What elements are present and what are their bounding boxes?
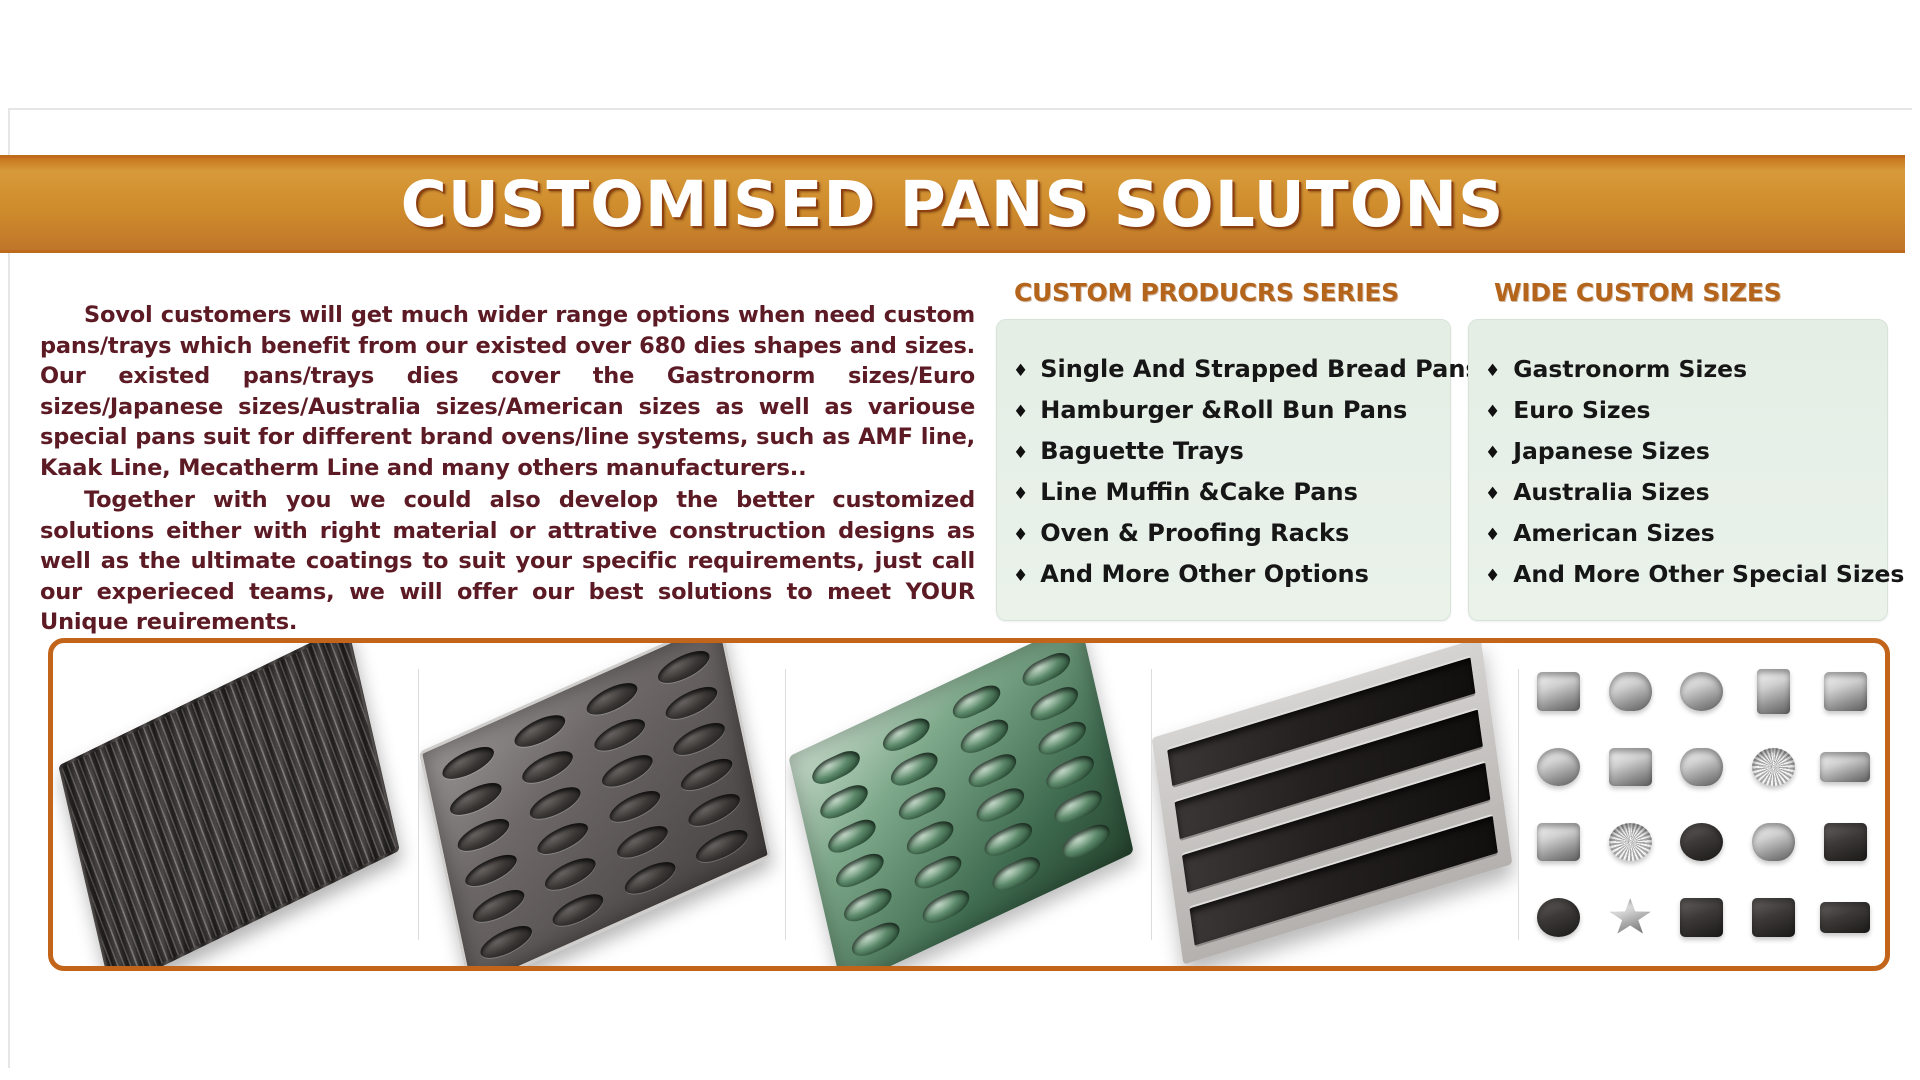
diamond-bullet-icon: ♦ (1013, 434, 1028, 472)
diamond-bullet-icon: ♦ (1485, 434, 1500, 472)
list-item-label: Hamburger &Roll Bun Pans (1040, 391, 1407, 429)
list-item[interactable]: ♦ And More Other Options (1013, 555, 1440, 596)
diamond-bullet-icon: ♦ (1485, 393, 1500, 431)
custom-products-series-card: ♦ Single And Strapped Bread Pans ♦ Hambu… (996, 319, 1451, 621)
custom-products-series-heading: CUSTOM PRODUCRS SERIES (1014, 278, 1451, 307)
list-item[interactable]: ♦ American Sizes (1485, 514, 1877, 555)
wide-custom-sizes-heading: WIDE CUSTOM SIZES (1494, 278, 1888, 307)
strapped-bread-pan-set-image (1152, 643, 1512, 965)
list-item-label: Line Muffin &Cake Pans (1040, 473, 1358, 511)
product-photo-green-oval-roll-pan (786, 643, 1152, 966)
content-row: Sovol customers will get much wider rang… (0, 278, 1910, 618)
list-item[interactable]: ♦ And More Other Special Sizes (1485, 555, 1877, 596)
list-item[interactable]: ♦ Hamburger &Roll Bun Pans (1013, 391, 1440, 432)
list-item[interactable]: ♦ Line Muffin &Cake Pans (1013, 473, 1440, 514)
intro-paragraph-2: Together with you we could also develop … (40, 485, 975, 638)
intro-paragraph-1: Sovol customers will get much wider rang… (40, 300, 975, 483)
list-item[interactable]: ♦ Japanese Sizes (1485, 432, 1877, 473)
list-item[interactable]: ♦ Gastronorm Sizes (1485, 350, 1877, 391)
list-item-label: And More Other Special Sizes (1513, 555, 1904, 593)
diamond-bullet-icon: ♦ (1485, 557, 1500, 595)
list-item-label: American Sizes (1513, 514, 1715, 552)
list-item[interactable]: ♦ Euro Sizes (1485, 391, 1877, 432)
diamond-bullet-icon: ♦ (1013, 475, 1028, 513)
diamond-bullet-icon: ♦ (1485, 352, 1500, 390)
intro-copy: Sovol customers will get much wider rang… (40, 300, 975, 638)
hamburger-bun-pan-image (419, 643, 771, 966)
diamond-bullet-icon: ♦ (1013, 557, 1028, 595)
list-item-label: Baguette Trays (1040, 432, 1244, 470)
list-item-label: Australia Sizes (1513, 473, 1709, 511)
list-item-label: And More Other Options (1040, 555, 1369, 593)
product-photo-strip (48, 638, 1890, 971)
list-item-label: Japanese Sizes (1513, 432, 1710, 470)
corrugated-baguette-tray-image (58, 643, 400, 966)
diamond-bullet-icon: ♦ (1013, 516, 1028, 554)
slide-canvas: CUSTOMISED PANS SOLUTONS Sovol customers… (0, 0, 1920, 1080)
bread-pan-channels (1166, 655, 1497, 947)
list-item[interactable]: ♦ Single And Strapped Bread Pans (1013, 350, 1440, 391)
list-item-label: Euro Sizes (1513, 391, 1650, 429)
bun-cups (441, 645, 750, 964)
page-title: CUSTOMISED PANS SOLUTONS (401, 168, 1505, 241)
product-photo-assorted-small-pans (1519, 643, 1885, 966)
custom-products-series-list: ♦ Single And Strapped Bread Pans ♦ Hambu… (1013, 350, 1440, 596)
green-oval-roll-pan-image (789, 643, 1135, 966)
oval-cups (811, 647, 1113, 962)
product-photo-strapped-bread-pan-set (1152, 643, 1518, 966)
wide-custom-sizes-list: ♦ Gastronorm Sizes ♦ Euro Sizes ♦ Japane… (1485, 350, 1877, 596)
diamond-bullet-icon: ♦ (1013, 393, 1028, 431)
list-item-label: Single And Strapped Bread Pans (1040, 350, 1479, 388)
list-item-label: Oven & Proofing Racks (1040, 514, 1349, 552)
diamond-bullet-icon: ♦ (1485, 516, 1500, 554)
diamond-bullet-icon: ♦ (1013, 352, 1028, 390)
wide-custom-sizes-column: WIDE CUSTOM SIZES ♦ Gastronorm Sizes ♦ E… (1468, 278, 1888, 621)
wide-custom-sizes-card: ♦ Gastronorm Sizes ♦ Euro Sizes ♦ Japane… (1468, 319, 1888, 621)
diamond-bullet-icon: ♦ (1485, 475, 1500, 513)
assorted-small-pans-image (1530, 662, 1874, 946)
list-item-label: Gastronorm Sizes (1513, 350, 1747, 388)
list-item[interactable]: ♦ Australia Sizes (1485, 473, 1877, 514)
list-item[interactable]: ♦ Baguette Trays (1013, 432, 1440, 473)
title-banner: CUSTOMISED PANS SOLUTONS (0, 155, 1905, 253)
product-photo-corrugated-baguette-tray (53, 643, 419, 966)
product-photo-hamburger-bun-pan (419, 643, 785, 966)
list-item[interactable]: ♦ Oven & Proofing Racks (1013, 514, 1440, 555)
assorted-pan-shapes (1530, 662, 1874, 946)
custom-products-series-column: CUSTOM PRODUCRS SERIES ♦ Single And Stra… (996, 278, 1451, 621)
